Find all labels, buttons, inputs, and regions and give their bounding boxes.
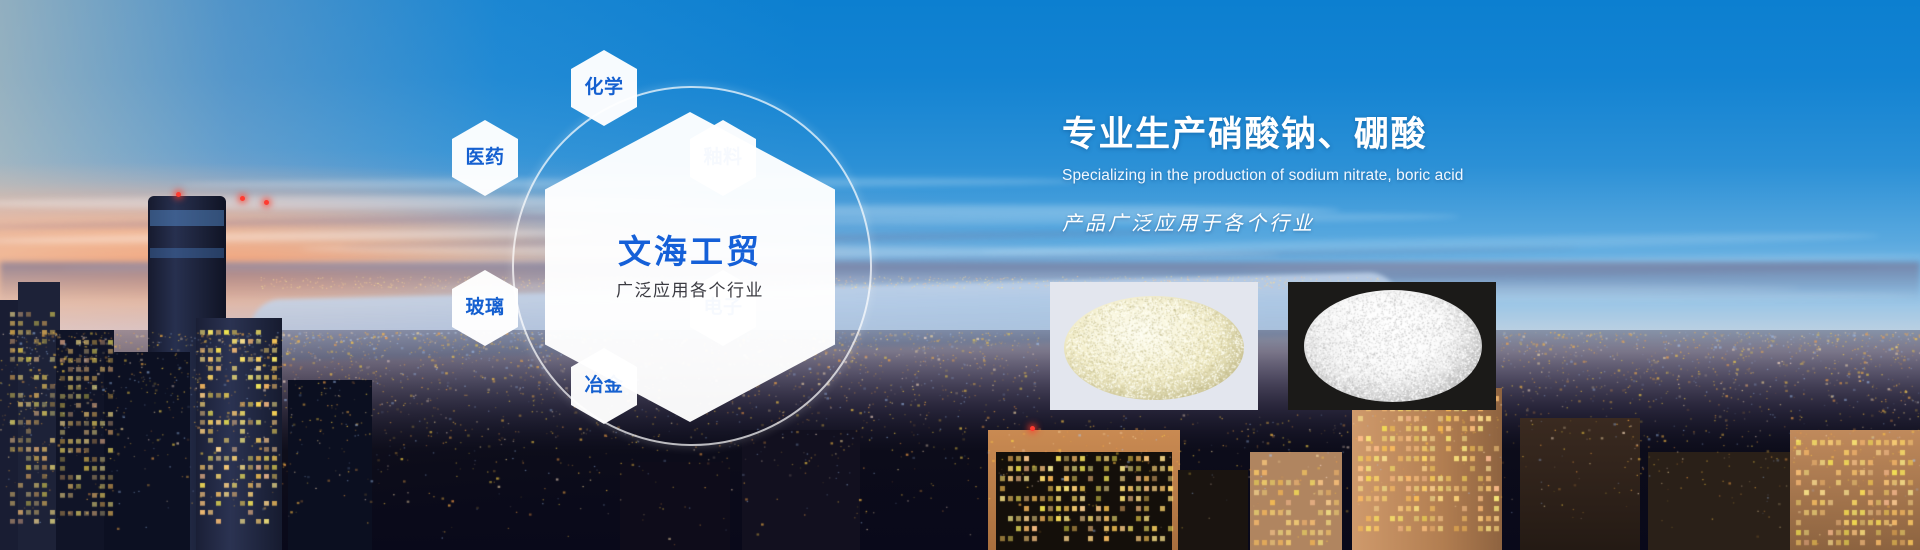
brand-name: 文海工贸 [618, 233, 762, 272]
industry-node-glass[interactable]: 玻璃 [452, 270, 518, 346]
product-photo-boric-acid [1288, 282, 1496, 410]
hero-banner: 化学釉料电子冶金玻璃医药 文海工贸 广泛应用各个行业 专业生产硝酸钠、硼酸 Sp… [0, 0, 1920, 550]
industry-node-label: 玻璃 [465, 297, 504, 319]
industry-node-label: 化学 [584, 77, 623, 99]
brand-tagline: 广泛应用各个行业 [616, 281, 764, 301]
industries-infographic: 化学釉料电子冶金玻璃医药 文海工贸 广泛应用各个行业 [435, 20, 955, 540]
powder-pile [1064, 296, 1244, 400]
headline-primary: 专业生产硝酸钠、硼酸 [1062, 106, 1682, 157]
powder-grain-texture [1064, 296, 1244, 400]
industry-node-medicine[interactable]: 医药 [452, 120, 518, 196]
window-lights-canvas [0, 0, 1920, 550]
headline-english: Specializing in the production of sodium… [1062, 167, 1682, 185]
powder-grain-texture [1304, 290, 1482, 402]
headline-block: 专业生产硝酸钠、硼酸 Specializing in the productio… [1062, 106, 1682, 236]
product-photo-sodium-nitrate [1050, 282, 1258, 410]
industry-node-label: 医药 [465, 147, 504, 169]
powder-pile [1304, 290, 1482, 402]
headline-tagline: 产品广泛应用于各个行业 [1062, 207, 1682, 236]
